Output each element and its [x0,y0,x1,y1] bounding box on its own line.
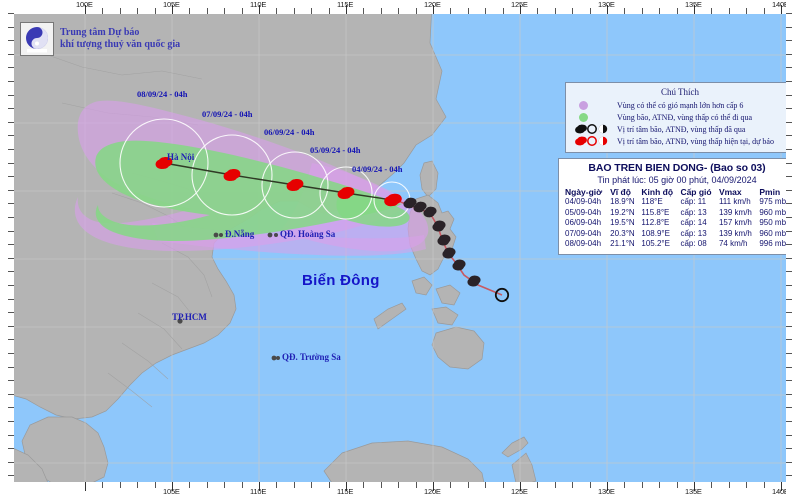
nchmf-logo-icon [20,22,54,56]
axis-tick-lat [8,40,14,41]
legend-symbol-purple-circle [571,99,617,111]
axis-tick-minor [224,482,225,488]
axis-tick-minor [207,482,208,488]
cell-lon: 108.9°E [639,229,678,240]
org-line-1: Trung tâm Dự báo [60,27,180,39]
cell-datetime: 04/09-04h [563,197,608,208]
axis-tick-lat [786,244,792,245]
axis-tick-minor [590,8,591,14]
lon-label-bottom-120E: 120E [424,487,441,496]
axis-tick-minor [102,8,103,14]
col-cap: Cấp gió [678,187,717,197]
axis-tick-lat [8,353,14,354]
axis-tick-lat [786,258,792,259]
axis-tick-lat [8,367,14,368]
axis-tick-lat [8,122,14,123]
forecast-label-06-09: 06/09/24 - 04h [264,127,315,137]
axis-tick-lat [786,462,792,463]
table-row: 06/09-04h19.5°N112.8°Ecấp: 14157 km/h950… [563,218,791,229]
axis-tick-minor [590,482,591,488]
axis-tick-lat [786,13,792,14]
axis-tick-lat [786,95,792,96]
table-row: 07/09-04h20.3°N108.9°Ecấp: 13139 km/h960… [563,229,791,240]
axis-tick-lat [8,271,14,272]
axis-tick-lat [786,163,792,164]
axis-tick-lat [786,81,792,82]
axis-tick-minor [642,482,643,488]
axis-tick-minor [677,482,678,488]
axis-tick-lat [786,54,792,55]
axis-tick-minor [537,8,538,14]
storm-info-panel: BAO TREN BIEN DONG- (Bao so 03) Tin phát… [558,158,796,255]
cell-vmax: 139 km/h [717,229,757,240]
axis-tick-minor [416,482,417,488]
purple-circle-icon [579,101,588,110]
axis-tick-lat [786,203,792,204]
axis-tick-lat [786,149,792,150]
col-lon: Kinh độ [639,187,678,197]
storm-title: BAO TREN BIEN DONG- (Bao so 03) [563,162,791,174]
axis-tick-lat [8,231,14,232]
axis-tick-lat [8,203,14,204]
organization-name: Trung tâm Dự báo khí tượng thuỷ văn quốc… [60,27,180,51]
axis-tick-minor [555,482,556,488]
axis-tick-lat [786,326,792,327]
axis-tick-minor [711,8,712,14]
forecast-label-08-09: 08/09/24 - 04h [137,89,188,99]
axis-tick-lat [786,271,792,272]
axis-tick-lat [786,407,792,408]
axis-tick-lat [786,27,792,28]
axis-tick-minor [642,8,643,14]
cell-cap: cấp: 14 [678,218,717,229]
axis-tick-lat [786,135,792,136]
axis-tick-minor [207,8,208,14]
axis-tick-minor [363,8,364,14]
latitude-axis-right [786,0,800,496]
green-circle-icon [579,113,588,122]
axis-tick-minor [381,8,382,14]
forecast-label-07-09: 07/09/24 - 04h [202,109,253,119]
city-dot-da-nang [214,233,219,238]
axis-tick-minor [224,8,225,14]
cell-datetime: 07/09-04h [563,229,608,240]
cell-cap: cấp: 11 [678,197,717,208]
axis-tick-minor [624,482,625,488]
axis-tick-minor [485,482,486,488]
axis-tick-minor [503,482,504,488]
axis-tick-lat [786,231,792,232]
cell-vmax: 139 km/h [717,208,757,219]
axis-tick-minor [572,8,573,14]
cell-datetime: 05/09-04h [563,208,608,219]
axis-tick-minor [294,482,295,488]
axis-tick-lat [8,149,14,150]
axis-tick-lat [8,135,14,136]
cell-datetime: 06/09-04h [563,218,608,229]
axis-tick-minor [468,8,469,14]
axis-tick-lat [786,380,792,381]
legend-item-current-forecast-positions: Vị trí tâm bão, ATNĐ, vùng thấp hiện tại… [571,135,789,147]
axis-tick-minor [503,8,504,14]
axis-tick-minor [746,8,747,14]
lon-label-top-120E: 120E [424,0,441,9]
axis-tick-lat [8,54,14,55]
axis-tick-lat [786,176,792,177]
axis-tick-lat [8,462,14,463]
axis-tick-minor [398,482,399,488]
legend-item-storm-area: Vùng bão, ATNĐ, vùng thấp có thể đi qua [571,111,789,123]
longitude-axis-top: 100E105E110E115E120E125E130E135E140E [0,0,800,14]
axis-tick-minor [120,8,121,14]
lon-label-bottom-135E: 135E [685,487,702,496]
axis-tick-minor [677,8,678,14]
axis-tick-minor [120,482,121,488]
axis-tick-lat [8,475,14,476]
axis-tick-minor [468,482,469,488]
table-row: 08/09-04h21.1°N105.2°Ecấp: 0874 km/h996 … [563,239,791,250]
axis-tick-minor [764,8,765,14]
axis-tick-lat [8,27,14,28]
cell-lon: 118°E [639,197,678,208]
cell-lon: 105.2°E [639,239,678,250]
city-dot-truong-sa [272,356,277,361]
axis-tick-minor [137,482,138,488]
lon-label-top-135E: 135E [685,0,702,9]
cell-lat: 20.3°N [608,229,639,240]
red-cyclone-icon [575,135,613,147]
axis-tick-minor [242,8,243,14]
axis-tick-lat [8,380,14,381]
axis-tick-minor [155,482,156,488]
axis-tick-minor [398,8,399,14]
cell-lat: 18.9°N [608,197,639,208]
axis-tick-minor [189,482,190,488]
axis-tick-minor [329,8,330,14]
axis-tick-lat [8,312,14,313]
axis-tick-minor [311,8,312,14]
legend-panel: Chú Thích Vùng có thể có gió mạnh lớn hơ… [565,82,795,153]
longitude-axis-bottom: 105E110E115E120E125E130E135E140E [0,482,800,496]
lon-label-top-110E: 110E [250,0,266,9]
legend-symbol-green-circle [571,111,617,123]
axis-tick-minor [729,482,730,488]
forecast-table: Ngày-giờ Vĩ độ Kinh độ Cấp gió Vmax Pmin… [563,187,791,250]
axis-tick-minor [537,482,538,488]
col-vmax: Vmax [717,187,757,197]
table-row: 05/09-04h19.2°N115.8°Ecấp: 13139 km/h960… [563,208,791,219]
axis-tick-minor [729,8,730,14]
axis-tick-minor [711,482,712,488]
axis-tick-lat [8,258,14,259]
axis-tick-lat [8,108,14,109]
organization-header: Trung tâm Dự báo khí tượng thuỷ văn quốc… [20,22,180,56]
lon-label-bottom-115E: 115E [337,487,353,496]
lon-label-top-105E: 105E [163,0,180,9]
axis-tick-minor [572,482,573,488]
axis-tick-lat [786,299,792,300]
axis-tick-minor [746,482,747,488]
cell-lat: 21.1°N [608,239,639,250]
col-datetime: Ngày-giờ [563,187,608,197]
city-dot-hoang-sa [268,233,273,238]
axis-tick-minor [294,8,295,14]
axis-tick-minor [155,8,156,14]
axis-tick-lat [786,67,792,68]
cell-lat: 19.5°N [608,218,639,229]
org-line-2: khí tượng thuỷ văn quốc gia [60,39,180,51]
axis-tick-lat [8,448,14,449]
legend-text-storm-area: Vùng bão, ATNĐ, vùng thấp có thể đi qua [617,113,752,122]
axis-tick-major [85,482,86,491]
lon-label-top-125E: 125E [511,0,528,9]
axis-tick-lat [8,244,14,245]
forecast-label-05-09: 05/09/24 - 04h [310,145,361,155]
axis-tick-lat [786,122,792,123]
lon-label-bottom-130E: 130E [598,487,615,496]
axis-tick-lat [8,95,14,96]
axis-tick-lat [786,448,792,449]
axis-tick-lat [786,353,792,354]
axis-tick-lat [8,326,14,327]
axis-tick-lat [786,190,792,191]
cell-vmax: 74 km/h [717,239,757,250]
legend-symbol-black-cyclones [571,123,617,135]
axis-tick-lat [8,81,14,82]
axis-tick-lat [8,163,14,164]
legend-item-past-positions: Vị trí tâm bão, ATNĐ, vùng thấp đã qua [571,123,789,135]
axis-tick-minor [624,8,625,14]
axis-tick-lat [786,40,792,41]
cell-datetime: 08/09-04h [563,239,608,250]
axis-tick-lat [8,407,14,408]
cell-lon: 115.8°E [639,208,678,219]
axis-tick-minor [485,8,486,14]
axis-tick-minor [450,8,451,14]
axis-tick-minor [242,482,243,488]
axis-tick-minor [764,482,765,488]
axis-tick-lat [8,67,14,68]
axis-tick-minor [450,482,451,488]
black-cyclone-icon [575,123,613,135]
table-row: 04/09-04h18.9°N118°Ecấp: 11111 km/h975 m… [563,197,791,208]
axis-tick-lat [8,394,14,395]
city-dot-tphcm [177,318,182,323]
axis-tick-minor [659,8,660,14]
legend-text-gale-area: Vùng có thể có gió mạnh lớn hơn cấp 6 [617,101,743,110]
axis-tick-lat [8,339,14,340]
table-header-row: Ngày-giờ Vĩ độ Kinh độ Cấp gió Vmax Pmin [563,187,791,197]
cell-lat: 19.2°N [608,208,639,219]
cell-cap: cấp: 08 [678,239,717,250]
axis-tick-minor [416,8,417,14]
axis-tick-lat [8,285,14,286]
legend-text-past-positions: Vị trí tâm bão, ATNĐ, vùng thấp đã qua [617,125,745,134]
axis-tick-lat [786,475,792,476]
legend-item-gale-area: Vùng có thể có gió mạnh lớn hơn cấp 6 [571,99,789,111]
axis-tick-minor [329,482,330,488]
cell-lon: 112.8°E [639,218,678,229]
axis-tick-minor [555,8,556,14]
axis-tick-lat [786,421,792,422]
axis-tick-lat [786,394,792,395]
axis-tick-lat [8,435,14,436]
axis-tick-lat [8,299,14,300]
axis-tick-lat [786,367,792,368]
axis-tick-minor [276,8,277,14]
axis-tick-minor [311,482,312,488]
legend-symbol-red-cyclones [571,135,617,147]
axis-tick-lat [8,190,14,191]
axis-tick-lat [8,217,14,218]
axis-tick-lat [786,217,792,218]
lon-label-bottom-125E: 125E [511,487,528,496]
cell-vmax: 111 km/h [717,197,757,208]
axis-tick-lat [8,13,14,14]
lon-label-top-115E: 115E [337,0,353,9]
typhoon-forecast-map-page: 08/09/24 - 04h 07/09/24 - 04h 06/09/24 -… [0,0,800,496]
axis-tick-minor [276,482,277,488]
forecast-label-04-09: 04/09/24 - 04h [352,164,403,174]
axis-tick-lat [8,176,14,177]
axis-tick-minor [189,8,190,14]
forecast-table-body: 04/09-04h18.9°N118°Ecấp: 11111 km/h975 m… [563,197,791,250]
legend-text-current-forecast-positions: Vị trí tâm bão, ATNĐ, vùng thấp hiện tại… [617,137,774,146]
axis-tick-minor [363,482,364,488]
bulletin-issue-time: Tin phát lúc: 05 giờ 00 phút, 04/09/2024 [563,175,791,185]
latitude-axis-left [0,0,14,496]
cell-cap: cấp: 13 [678,229,717,240]
axis-tick-lat [786,312,792,313]
lon-label-bottom-110E: 110E [250,487,266,496]
axis-tick-lat [8,421,14,422]
axis-tick-minor [659,482,660,488]
col-lat: Vĩ độ [608,187,639,197]
axis-tick-lat [786,108,792,109]
axis-tick-minor [381,482,382,488]
axis-tick-lat [786,339,792,340]
axis-tick-lat [786,285,792,286]
lon-label-bottom-105E: 105E [163,487,180,496]
axis-tick-minor [102,482,103,488]
lon-label-top-100E: 100E [76,0,93,9]
legend-title: Chú Thích [571,87,789,97]
axis-tick-lat [786,435,792,436]
axis-tick-minor [137,8,138,14]
cell-vmax: 157 km/h [717,218,757,229]
lon-label-top-130E: 130E [598,0,615,9]
cell-cap: cấp: 13 [678,208,717,219]
